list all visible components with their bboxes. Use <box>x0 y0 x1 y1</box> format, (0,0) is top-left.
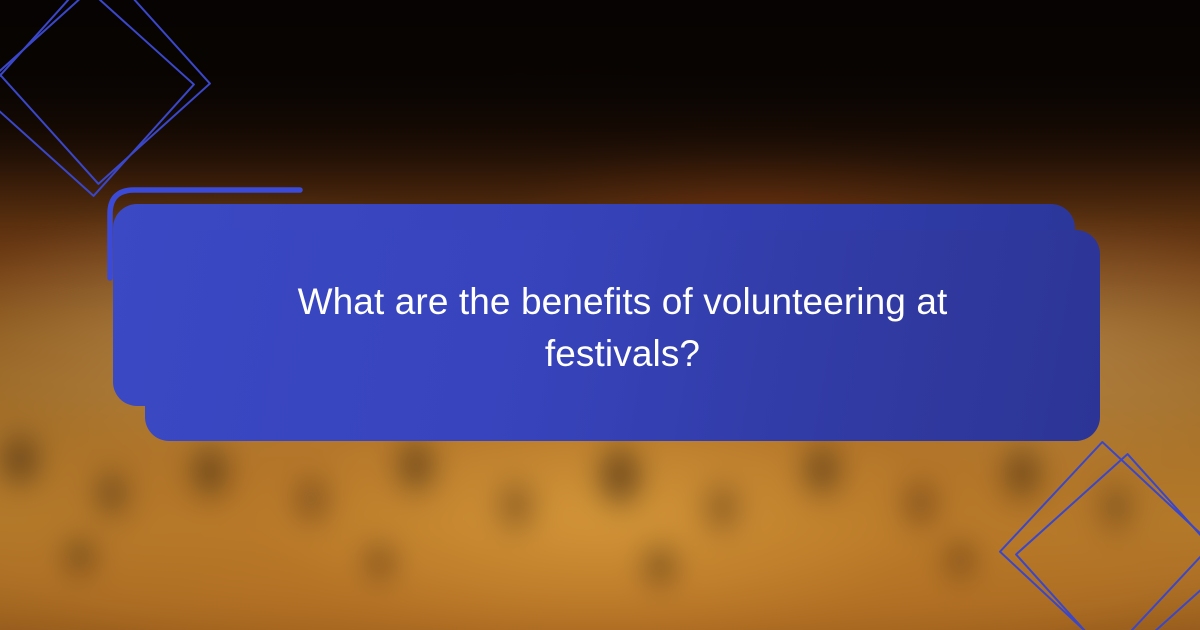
diamond-outline-icon <box>1015 453 1200 630</box>
decor-diamonds-top-left <box>0 0 230 200</box>
diamond-outline-icon <box>0 0 211 185</box>
question-text: What are the benefits of volunteering at… <box>183 276 1063 388</box>
decor-diamonds-bottom-right <box>980 420 1200 630</box>
question-card[interactable]: What are the benefits of volunteering at… <box>145 230 1100 441</box>
